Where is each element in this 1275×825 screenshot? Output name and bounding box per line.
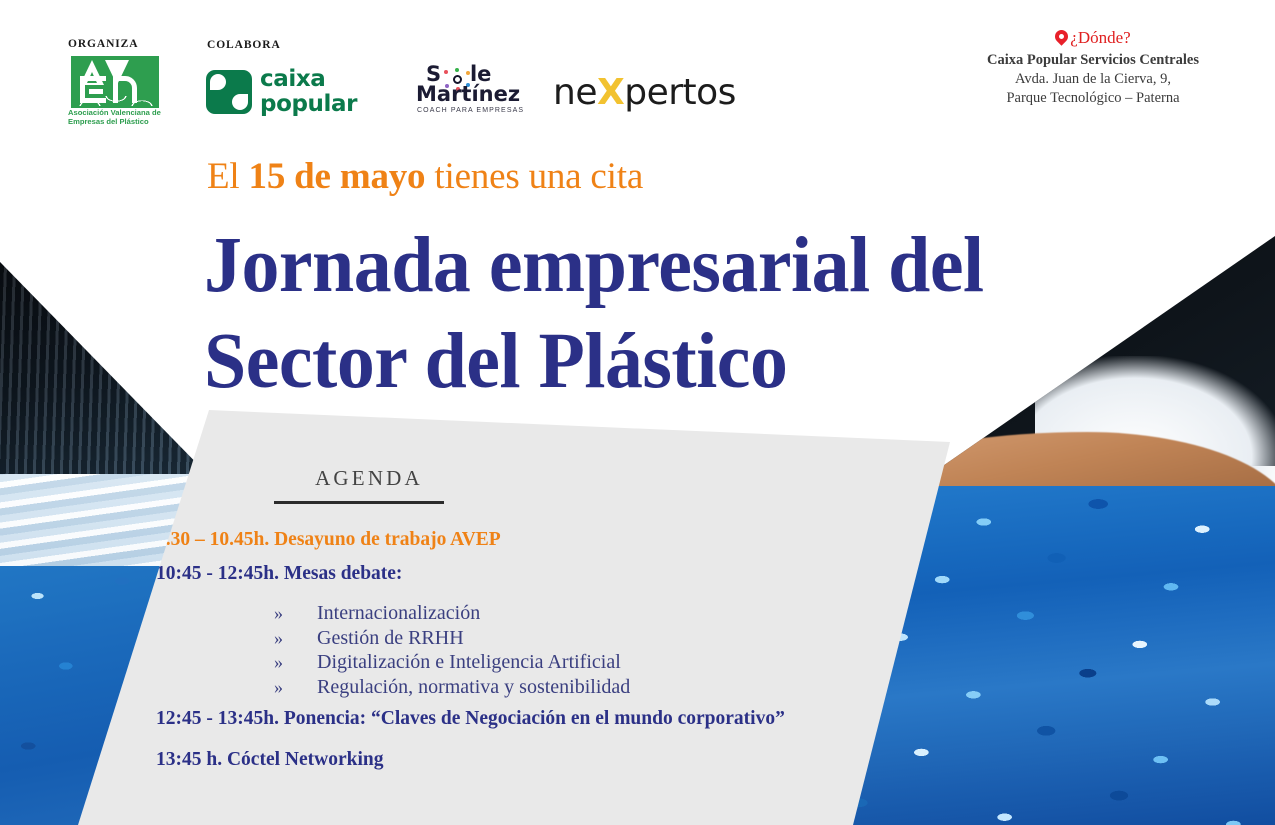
poster-header: ORGANIZA COLABORA Asociación Valenciana … (0, 0, 1275, 150)
nexpertos-prefix: ne (553, 72, 597, 113)
bullet-marker-icon: » (274, 650, 283, 675)
organiza-label: ORGANIZA (68, 38, 138, 50)
location-block: ¿Dónde? Caixa Popular Servicios Centrale… (943, 28, 1243, 108)
list-item: » Digitalización e Inteligencia Artifici… (274, 650, 630, 675)
agenda-item-3: 12:45 - 13:45h. Ponencia: “Claves de Neg… (156, 708, 785, 730)
location-street: Avda. Juan de la Cierva, 9, (943, 70, 1243, 89)
bullet-marker-icon: » (274, 675, 283, 700)
list-item: » Internacionalización (274, 601, 630, 626)
list-item-label: Internacionalización (317, 601, 480, 626)
sole-tagline: COACH PARA EMPRESAS (417, 107, 524, 114)
event-poster: ORGANIZA COLABORA Asociación Valenciana … (0, 0, 1275, 825)
agenda-divider (274, 501, 444, 504)
caixa-word-line1: caixa (260, 67, 357, 92)
kicker-prefix: El (207, 156, 249, 197)
nexpertos-logo: neXpertos (553, 72, 736, 113)
bullet-marker-icon: » (274, 601, 283, 626)
list-item: » Regulación, normativa y sostenibilidad (274, 675, 630, 700)
list-item-label: Regulación, normativa y sostenibilidad (317, 675, 630, 700)
caixa-popular-logo: caixa popular (206, 66, 386, 122)
list-item-label: Digitalización e Inteligencia Artificial (317, 650, 621, 675)
avep-logo-caption: Asociación Valenciana de Empresas del Pl… (68, 108, 172, 127)
location-address: Caixa Popular Servicios Centrales Avda. … (943, 51, 1243, 108)
location-venue: Caixa Popular Servicios Centrales (943, 51, 1243, 70)
agenda-item-4: 13:45 h. Cóctel Networking (156, 749, 383, 771)
caixa-word-line2: popular (260, 92, 357, 117)
agenda-item-1: 9.30 – 10.45h. Desayuno de trabajo AVEP (156, 529, 501, 551)
list-item-label: Gestión de RRHH (317, 626, 464, 651)
avep-logo-mark (71, 56, 159, 108)
page-title-line2: Sector del Plástico (204, 314, 1126, 410)
sole-martinez-logo: Soole Martínez COACH PARA EMPRESAS (416, 62, 536, 120)
agenda-item-2: 10:45 - 12:45h. Mesas debate: (156, 563, 402, 585)
avep-wave-icon (77, 96, 155, 106)
sole-wordmark-line2: Martínez (416, 82, 520, 106)
list-item: » Gestión de RRHH (274, 626, 630, 651)
agenda-panel: AGENDA 9.30 – 10.45h. Desayuno de trabaj… (78, 404, 950, 825)
bullet-marker-icon: » (274, 626, 283, 651)
nexpertos-x-icon: X (597, 72, 624, 113)
map-pin-icon (1053, 27, 1071, 45)
colabora-label: COLABORA (207, 39, 281, 51)
page-title-line1: Jornada empresarial del (204, 218, 1126, 314)
location-heading: ¿Dónde? (943, 28, 1243, 48)
kicker-date-value: 15 de mayo (249, 156, 426, 197)
agenda-heading: AGENDA (274, 466, 464, 491)
event-date-kicker: El 15 de mayo tienes una cita (207, 155, 643, 198)
nexpertos-suffix: pertos (624, 72, 736, 113)
caixa-popular-wordmark: caixa popular (260, 67, 357, 117)
caixa-popular-logo-mark (206, 70, 252, 114)
location-area: Parque Tecnológico – Paterna (943, 89, 1243, 108)
avep-logo: Asociación Valenciana de Empresas del Pl… (68, 56, 172, 128)
kicker-suffix: tienes una cita (425, 156, 643, 197)
agenda-content: AGENDA 9.30 – 10.45h. Desayuno de trabaj… (78, 404, 950, 825)
page-title: Jornada empresarial del Sector del Plást… (204, 218, 1126, 410)
location-heading-text: ¿Dónde? (1070, 28, 1130, 48)
agenda-subtopic-list: » Internacionalización » Gestión de RRHH… (274, 601, 630, 699)
